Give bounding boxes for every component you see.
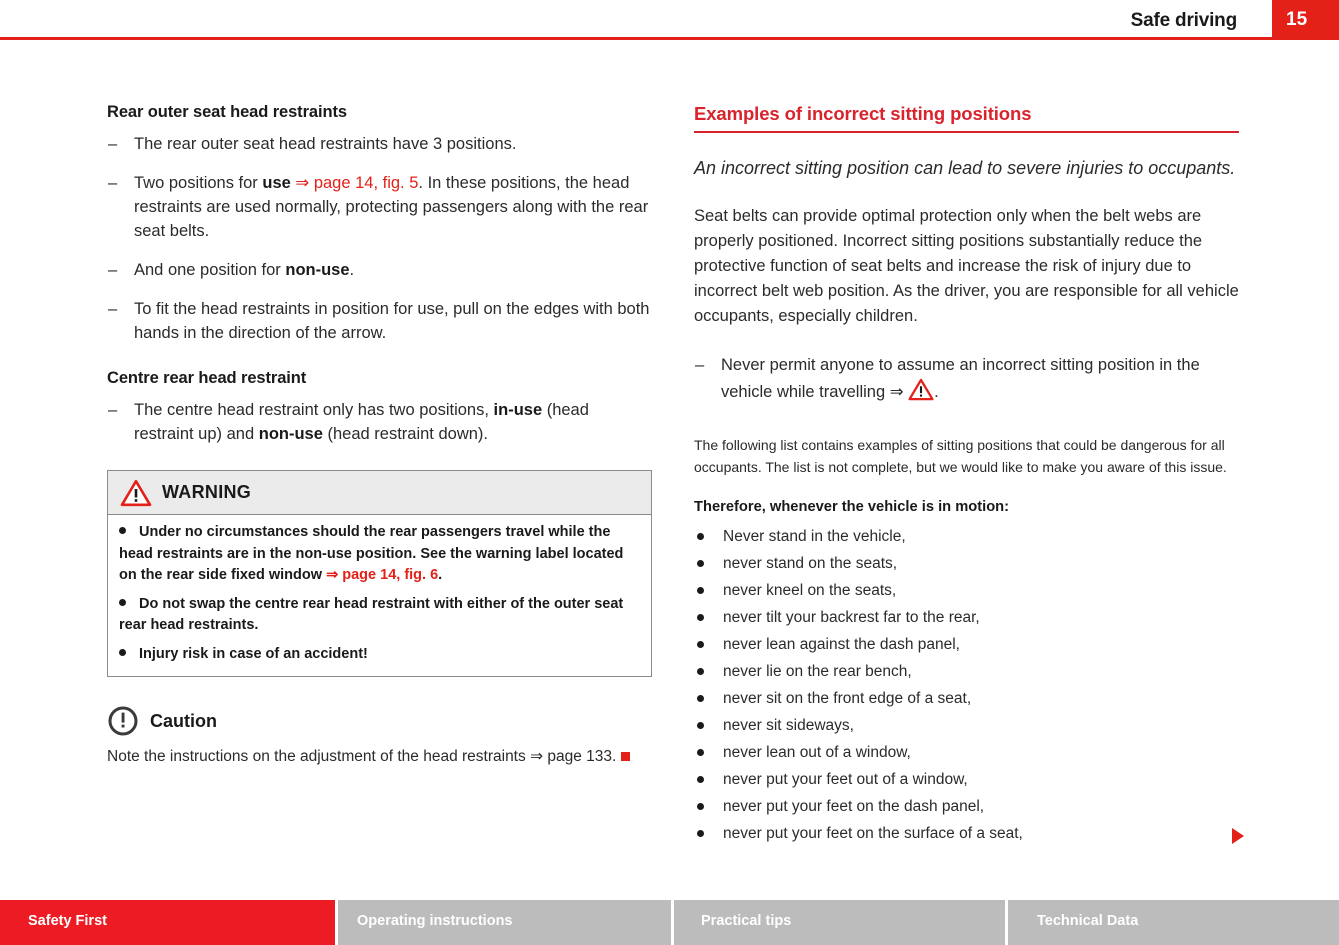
- warning-text: .: [438, 567, 442, 583]
- page-number-badge: 15: [1272, 0, 1339, 38]
- warning-triangle-icon: [908, 378, 934, 401]
- bullet-dot-icon: [697, 722, 704, 729]
- page-title: Safe driving: [1131, 10, 1237, 32]
- list-item: never stand on the seats,: [694, 553, 1239, 574]
- right-section-heading: Examples of incorrect sitting positions: [694, 103, 1239, 133]
- list-item: never put your feet out of a window,: [694, 769, 1239, 790]
- caution-block: Caution Note the instructions on the adj…: [107, 705, 652, 768]
- list-item: never lean out of a window,: [694, 742, 1239, 763]
- dash-marker: –: [108, 297, 117, 321]
- warning-box: WARNING Under no circumstances should th…: [107, 470, 652, 677]
- footer-tab-label: Operating instructions: [357, 913, 513, 929]
- list-item-label: Never stand in the vehicle,: [723, 528, 906, 545]
- list-item: never put your feet on the dash panel,: [694, 796, 1239, 817]
- list-item-label: never tilt your backrest far to the rear…: [723, 609, 980, 626]
- list-item: never lie on the rear bench,: [694, 661, 1239, 682]
- emphasis-text: non-use: [259, 425, 323, 443]
- bullet-dot-icon: [697, 587, 704, 594]
- caution-text: Note the instructions on the adjustment …: [107, 746, 652, 768]
- cross-reference-link[interactable]: ⇒ page 14, fig. 5: [291, 174, 419, 192]
- section-heading-rear-outer: Rear outer seat head restraints: [107, 103, 652, 122]
- warning-text: Injury risk in case of an accident!: [139, 646, 368, 662]
- list-item: never sit on the front edge of a seat,: [694, 688, 1239, 709]
- dash-marker: –: [108, 398, 117, 422]
- bullet-dot-icon: [697, 533, 704, 540]
- right-dash-text-after: .: [934, 383, 939, 401]
- bullet-dot-icon: [119, 599, 126, 606]
- caution-circle-icon: [107, 705, 139, 737]
- list-item-label: never lean against the dash panel,: [723, 636, 960, 653]
- right-dash-text-before: Never permit anyone to assume an incorre…: [721, 356, 1200, 401]
- list-item-label: never kneel on the seats,: [723, 582, 896, 599]
- list-item-label: never put your feet out of a window,: [723, 771, 968, 788]
- list-item: never sit sideways,: [694, 715, 1239, 736]
- body-text: The rear outer seat head restraints have…: [134, 135, 516, 153]
- page-number: 15: [1286, 9, 1307, 31]
- list-item: never tilt your backrest far to the rear…: [694, 607, 1239, 628]
- header-divider-rule: [0, 37, 1339, 40]
- bullet-dot-icon: [697, 641, 704, 648]
- continue-arrow-icon: [1232, 828, 1244, 844]
- warning-triangle-icon: [120, 479, 152, 507]
- footer-tab-safety-first[interactable]: Safety First: [0, 900, 335, 945]
- list-item-label: never put your feet on the surface of a …: [723, 825, 1023, 842]
- list-item-label: never lie on the rear bench,: [723, 663, 912, 680]
- bullet-dot-icon: [697, 560, 704, 567]
- footer-tab-practical-tips[interactable]: Practical tips: [671, 900, 1005, 945]
- warning-label: WARNING: [162, 482, 251, 503]
- list-item: Never stand in the vehicle,: [694, 526, 1239, 547]
- footer-tab-label: Safety First: [28, 913, 107, 929]
- list-item: never lean against the dash panel,: [694, 634, 1239, 655]
- caution-label: Caution: [150, 711, 217, 732]
- body-text: Two positions for: [134, 174, 262, 192]
- dash-list-item: –The rear outer seat head restraints hav…: [107, 132, 652, 156]
- emphasis-text: use: [262, 174, 290, 192]
- emphasis-text: in-use: [494, 401, 543, 419]
- footer-tabs: Safety FirstOperating instructionsPracti…: [0, 900, 1339, 945]
- centre-rear-dash-list: –The centre head restraint only has two …: [107, 398, 652, 446]
- dash-marker: –: [695, 353, 704, 378]
- bullet-dot-icon: [119, 649, 126, 656]
- bullet-dot-icon: [697, 803, 704, 810]
- footer-tab-label: Technical Data: [1037, 913, 1138, 929]
- dash-marker: –: [108, 171, 117, 195]
- list-item-label: never stand on the seats,: [723, 555, 897, 572]
- bullet-dot-icon: [697, 776, 704, 783]
- cross-reference-link[interactable]: ⇒ page 14, fig. 6: [326, 567, 438, 583]
- rear-outer-dash-list: –The rear outer seat head restraints hav…: [107, 132, 652, 345]
- dash-list-item: –And one position for non-use.: [107, 258, 652, 282]
- bullet-dot-icon: [697, 695, 704, 702]
- left-column: Rear outer seat head restraints –The rea…: [107, 103, 652, 768]
- bullet-dot-icon: [697, 668, 704, 675]
- right-bullets-lead: Therefore, whenever the vehicle is in mo…: [694, 499, 1239, 515]
- dash-marker: –: [108, 132, 117, 156]
- right-body-paragraph: Seat belts can provide optimal protectio…: [694, 204, 1239, 329]
- body-text: The centre head restraint only has two p…: [134, 401, 494, 419]
- list-item-label: never put your feet on the dash panel,: [723, 798, 984, 815]
- warning-box-header: WARNING: [108, 471, 651, 515]
- list-item-label: never sit sideways,: [723, 717, 854, 734]
- body-text: To fit the head restraints in position f…: [134, 300, 649, 342]
- warning-list-item: Do not swap the centre rear head restrai…: [119, 594, 640, 637]
- body-text: .: [350, 261, 355, 279]
- right-intro-italic: An incorrect sitting position can lead t…: [694, 155, 1239, 182]
- warning-text: Do not swap the centre rear head restrai…: [119, 596, 623, 634]
- body-text: And one position for: [134, 261, 285, 279]
- body-text: (head restraint down).: [323, 425, 488, 443]
- right-bullet-list: Never stand in the vehicle,never stand o…: [694, 526, 1239, 844]
- list-item-label: never sit on the front edge of a seat,: [723, 690, 971, 707]
- footer-tab-operating-instructions[interactable]: Operating instructions: [335, 900, 671, 945]
- caution-text-before: Note the instructions on the adjustment …: [107, 748, 530, 765]
- warning-list-item: Injury risk in case of an accident!: [119, 644, 640, 666]
- dash-list-item: –The centre head restraint only has two …: [107, 398, 652, 446]
- right-dash-item: –Never permit anyone to assume an incorr…: [694, 353, 1239, 405]
- bullet-dot-icon: [119, 527, 126, 534]
- caution-text-after: .: [612, 748, 616, 765]
- right-note-paragraph: The following list contains examples of …: [694, 435, 1239, 478]
- bullet-dot-icon: [697, 830, 704, 837]
- emphasis-text: non-use: [285, 261, 349, 279]
- bullet-dot-icon: [697, 749, 704, 756]
- right-column: Examples of incorrect sitting positions …: [694, 103, 1239, 850]
- page-header: Safe driving 15: [0, 0, 1339, 40]
- list-item: never kneel on the seats,: [694, 580, 1239, 601]
- warning-list-item: Under no circumstances should the rear p…: [119, 522, 640, 587]
- dash-list-item: –Two positions for use ⇒ page 14, fig. 5…: [107, 171, 652, 243]
- list-item-label: never lean out of a window,: [723, 744, 911, 761]
- footer-tab-technical-data[interactable]: Technical Data: [1005, 900, 1339, 945]
- footer-tab-label: Practical tips: [701, 913, 791, 929]
- caution-xref[interactable]: ⇒ page 133: [530, 748, 612, 765]
- red-square-end-marker: [621, 752, 630, 761]
- caution-header: Caution: [107, 705, 652, 737]
- bullet-dot-icon: [697, 614, 704, 621]
- list-item: never put your feet on the surface of a …: [694, 823, 1239, 844]
- dash-list-item: –To fit the head restraints in position …: [107, 297, 652, 345]
- dash-marker: –: [108, 258, 117, 282]
- section-heading-centre-rear: Centre rear head restraint: [107, 369, 652, 388]
- warning-box-body: Under no circumstances should the rear p…: [108, 515, 651, 676]
